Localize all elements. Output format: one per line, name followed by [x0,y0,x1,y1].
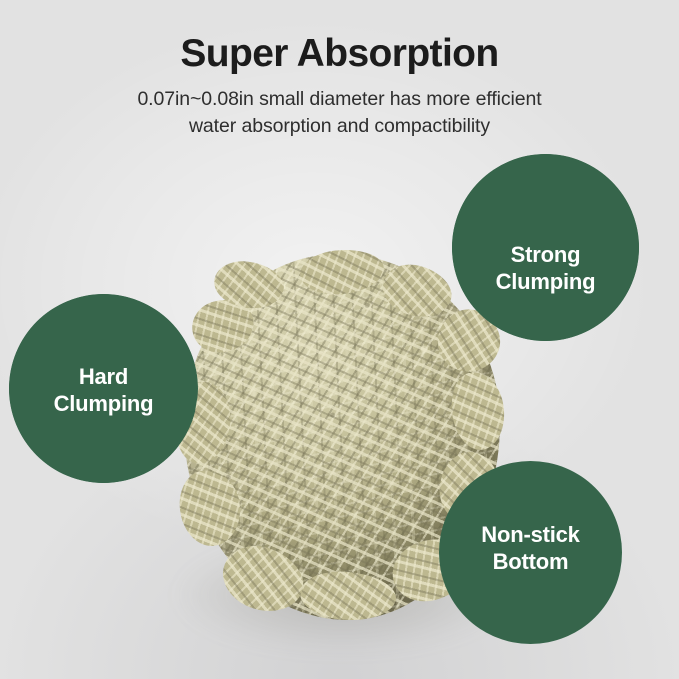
feature-line-2: Bottom [481,548,579,575]
page-subtitle: 0.07in~0.08in small diameter has more ef… [0,86,679,140]
feature-label-non-stick-bottom: Non-stick Bottom [471,521,589,575]
product-feature-infographic: Super Absorption 0.07in~0.08in small dia… [0,0,679,679]
subtitle-line-1: 0.07in~0.08in small diameter has more ef… [0,86,679,113]
page-title: Super Absorption [0,30,679,78]
feature-line-2: Clumping [54,390,154,417]
feature-line-2: Clumping [496,268,596,295]
feature-circle-non-stick-bottom[interactable]: Non-stick Bottom [439,461,622,644]
feature-label-strong-clumping: Strong Clumping [486,241,606,295]
feature-label-hard-clumping: Hard Clumping [44,363,164,417]
feature-line-1: Hard [54,363,154,390]
feature-line-1: Non-stick [481,521,579,548]
feature-line-1: Strong [496,241,596,268]
subtitle-line-2: water absorption and compactibility [0,113,679,140]
feature-circle-hard-clumping[interactable]: Hard Clumping [9,294,198,483]
feature-circle-strong-clumping[interactable]: Strong Clumping [452,154,639,341]
header-block: Super Absorption 0.07in~0.08in small dia… [0,30,679,140]
